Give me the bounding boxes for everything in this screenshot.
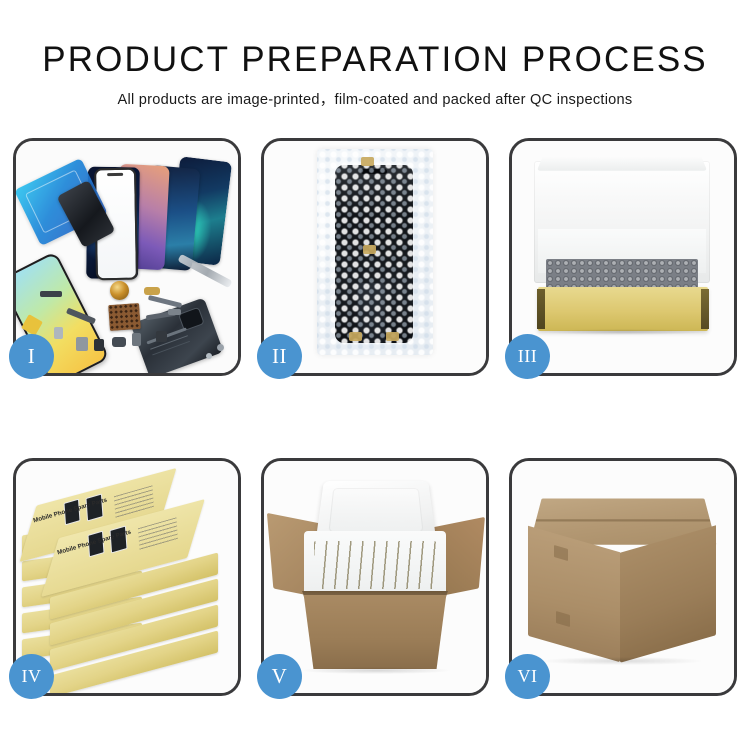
copper-coil-icon [110, 281, 129, 300]
step-6-image [512, 461, 734, 693]
carton-side-face [620, 525, 716, 663]
page-header: PRODUCT PREPARATION PROCESS All products… [0, 0, 750, 109]
small-part-icon [94, 339, 104, 351]
yellow-box-tray-icon [538, 287, 708, 331]
process-step-panel-2[interactable]: II [261, 138, 489, 376]
small-part-icon [76, 337, 88, 351]
carton-front-face [528, 526, 620, 662]
process-step-panel-1[interactable]: I [13, 138, 241, 376]
process-step-grid: I II III [13, 138, 737, 696]
process-step-panel-3[interactable]: III [509, 138, 737, 376]
tape-icon [386, 332, 399, 341]
small-part-icon [144, 287, 160, 295]
small-part-icon [40, 291, 62, 297]
process-step-panel-5[interactable]: V [261, 458, 489, 696]
small-part-icon [112, 337, 126, 347]
tape-icon [361, 157, 374, 166]
step-1-image [16, 141, 238, 373]
step-3-image [512, 141, 734, 373]
carton-body-icon [294, 595, 456, 669]
small-part-icon [168, 309, 181, 315]
step-badge-6: VI [505, 654, 550, 699]
small-part-icon [54, 327, 63, 339]
step-5-image [264, 461, 486, 693]
step-badge-4: IV [9, 654, 54, 699]
page-subtitle: All products are image-printed，film-coat… [0, 88, 750, 109]
step-2-image [264, 141, 486, 373]
step-badge-1: I [9, 334, 54, 379]
packed-yellow-boxes [314, 541, 436, 589]
bubble-wrap-package [317, 149, 433, 355]
step-badge-5: V [257, 654, 302, 699]
step-4-image: Mobile Phone Spare Parts Mobile Phone Sp… [16, 461, 238, 693]
page-title: PRODUCT PREPARATION PROCESS [0, 40, 750, 80]
screw-icon [206, 353, 212, 359]
drop-shadow [542, 329, 706, 335]
logic-board-icon [108, 303, 141, 331]
small-part-icon [132, 333, 141, 346]
parts-flatlay-scene [16, 141, 238, 373]
step-badge-3: III [505, 334, 550, 379]
drop-shadow [302, 667, 450, 674]
tape-icon [349, 332, 362, 341]
drop-shadow [542, 657, 702, 665]
process-step-panel-4[interactable]: Mobile Phone Spare Parts Mobile Phone Sp… [13, 458, 241, 696]
flex-cable-icon [148, 295, 182, 308]
box-stack: Mobile Phone Spare Parts Mobile Phone Sp… [22, 483, 234, 679]
tape-icon [363, 245, 376, 254]
process-step-panel-6[interactable]: VI [509, 458, 737, 696]
step-badge-2: II [257, 334, 302, 379]
screw-icon [217, 344, 224, 351]
small-part-icon [156, 331, 167, 342]
